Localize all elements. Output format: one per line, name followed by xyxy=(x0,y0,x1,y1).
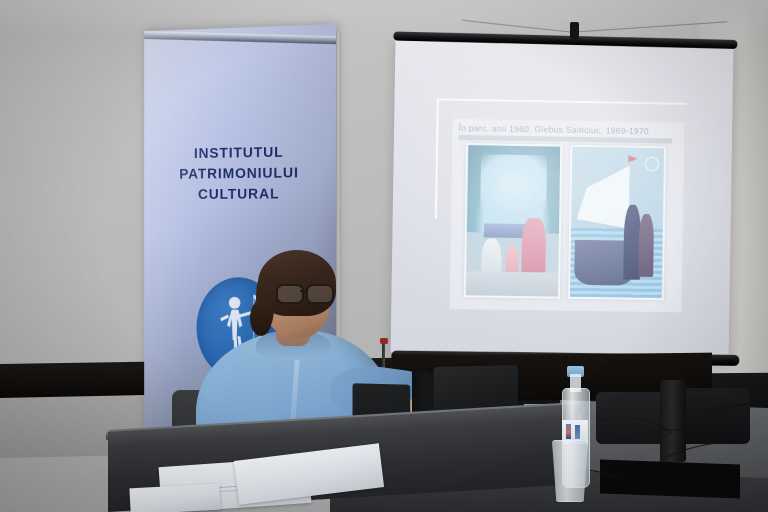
banner-title: INSTITUTUL PATRIMONIULUI CULTURAL xyxy=(144,142,336,206)
banner-title-line-2: PATRIMONIULUI xyxy=(144,163,336,186)
projection-screen: În parc, anii 1960. Glebus Sainciuc, 196… xyxy=(391,27,739,378)
bottle-label-graphic-1 xyxy=(566,424,571,439)
slide-edge-vertical xyxy=(435,98,439,218)
slide-edge-horizontal xyxy=(437,98,687,104)
slide-title-highlight xyxy=(458,135,672,144)
park-ground xyxy=(466,271,559,296)
park-sky xyxy=(480,154,547,215)
eyeglass-lens-right xyxy=(306,284,334,304)
sailboat-flag-icon xyxy=(628,155,637,164)
projected-slide: În parc, anii 1960. Glebus Sainciuc, 196… xyxy=(450,119,685,313)
bottle-label-graphic-2 xyxy=(575,425,580,439)
sailboat-sail xyxy=(577,165,631,229)
slide-image-sailboat-scene xyxy=(568,145,666,300)
sailboat-sun-icon xyxy=(645,157,659,171)
screen-hook-icon xyxy=(570,22,579,40)
slide-image-park-scene xyxy=(464,143,563,299)
paper-sheet-3[interactable] xyxy=(129,484,220,512)
photo-scene: INSTITUTUL PATRIMONIULUI CULTURAL xyxy=(0,0,768,512)
banner-title-line-3: CULTURAL xyxy=(144,184,336,206)
red-indicator-led xyxy=(380,338,388,344)
sailboat-figure-back xyxy=(638,214,654,277)
plastic-cup[interactable] xyxy=(552,440,588,502)
screen-surface: În parc, anii 1960. Glebus Sainciuc, 196… xyxy=(391,39,734,356)
presenter-hair-bun xyxy=(250,300,272,336)
eyeglasses-icon xyxy=(276,284,334,300)
banner-title-line-1: INSTITUTUL xyxy=(144,142,336,166)
eyeglass-lens-left xyxy=(276,284,304,304)
banner-top-edge xyxy=(144,31,336,44)
